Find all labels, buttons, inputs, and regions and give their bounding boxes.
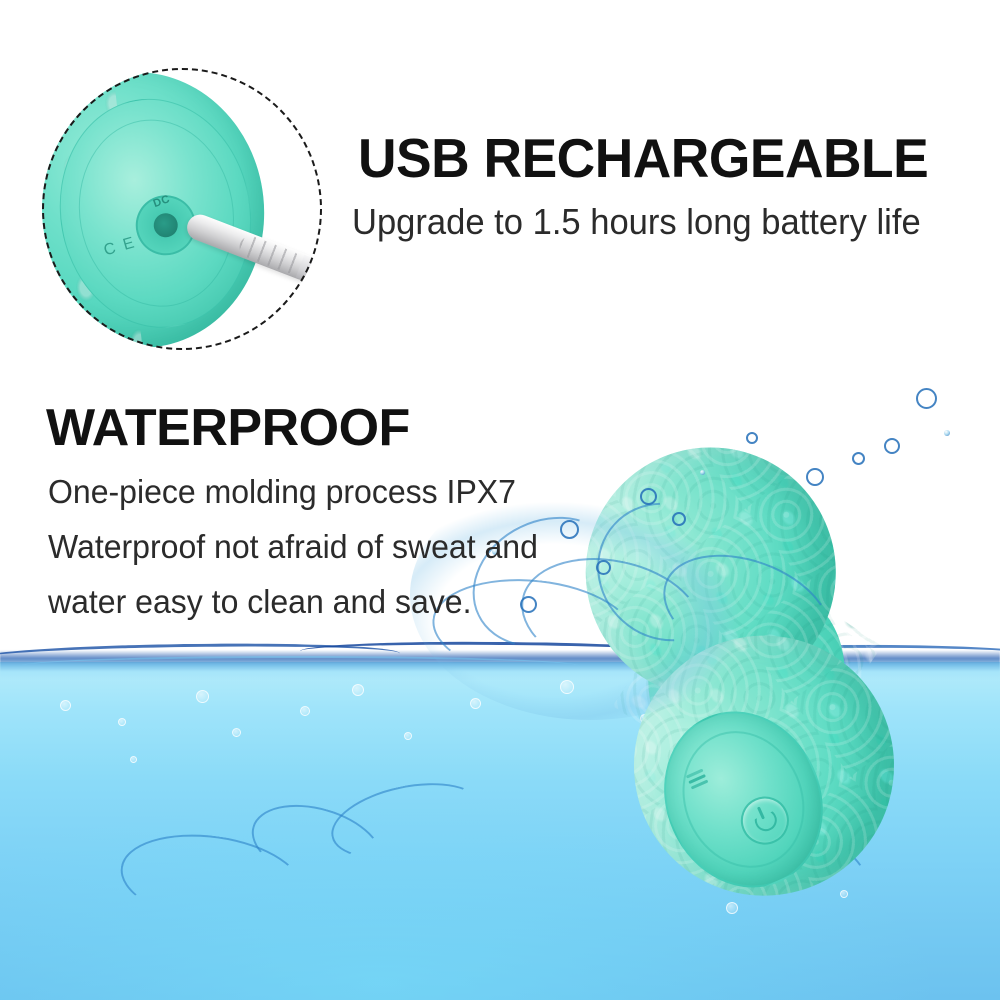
water-droplet — [852, 452, 865, 465]
water-droplet — [746, 432, 758, 444]
usb-rechargeable-heading: USB RECHARGEABLE — [358, 126, 928, 190]
bubble — [130, 756, 137, 763]
water-droplet — [700, 470, 705, 475]
bubble — [404, 732, 412, 740]
waterproof-heading: WATERPROOF — [46, 398, 410, 458]
water-droplet — [672, 512, 686, 526]
bubble — [840, 890, 848, 898]
usb-rechargeable-subtext: Upgrade to 1.5 hours long battery life — [352, 201, 921, 243]
bubble — [352, 684, 364, 696]
water-droplet — [806, 468, 824, 486]
inset-dashed-border — [42, 68, 322, 350]
waterproof-body-line-1: One-piece molding process IPX7 — [48, 473, 516, 511]
water-droplet — [596, 560, 611, 575]
water-droplet — [884, 438, 900, 454]
waterproof-body-line-2: Waterproof not afraid of sweat and — [48, 528, 538, 566]
product-feature-image: C E DC USB RECHARGEABLE Upgrade to 1.5 h… — [0, 0, 1000, 1000]
waterproof-body-line-3: water easy to clean and save. — [48, 583, 471, 621]
bubble — [196, 690, 209, 703]
water-droplet — [640, 488, 657, 505]
bubble — [118, 718, 126, 726]
water-droplet — [560, 520, 579, 539]
bubble — [60, 700, 71, 711]
water-droplet — [944, 430, 950, 436]
water-droplet — [916, 388, 937, 409]
bubble — [232, 728, 241, 737]
water-droplet — [520, 596, 537, 613]
bubble — [300, 706, 310, 716]
